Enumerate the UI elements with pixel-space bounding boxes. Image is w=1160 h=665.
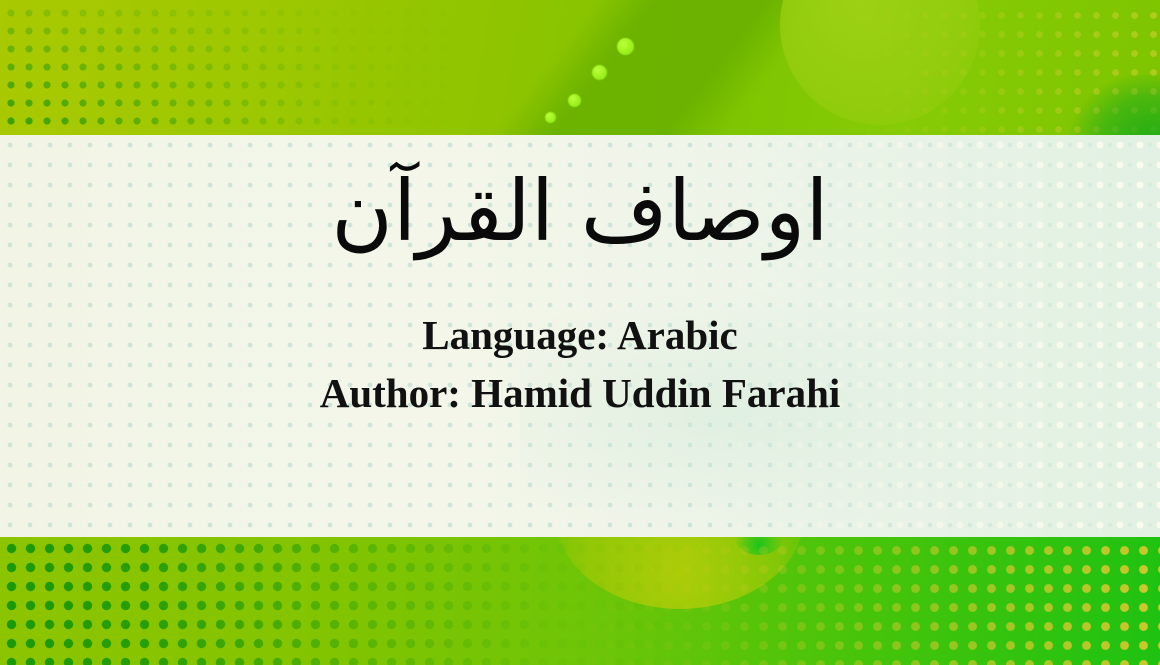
bottom-banner — [0, 537, 1160, 665]
lime-bubble-2 — [568, 94, 581, 107]
language-line: Language: Arabic — [320, 306, 841, 364]
cover-metadata-block: Language: Arabic Author: Hamid Uddin Far… — [320, 306, 841, 422]
author-line: Author: Hamid Uddin Farahi — [320, 364, 841, 422]
book-cover-card: اوصاف القرآن Language: Arabic Author: Ha… — [0, 0, 1160, 665]
top-left-halftone-dots — [0, 0, 560, 135]
book-title-arabic: اوصاف القرآن — [331, 163, 828, 260]
lime-bubble-1 — [545, 112, 556, 123]
top-banner — [0, 0, 1160, 135]
lime-bubble-4 — [617, 38, 634, 55]
bottom-right-halftone-dots — [560, 537, 1160, 665]
cover-text-content: اوصاف القرآن Language: Arabic Author: Ha… — [0, 135, 1160, 537]
top-corner-green-blot — [1070, 75, 1160, 135]
lime-bubble-3 — [592, 65, 607, 80]
